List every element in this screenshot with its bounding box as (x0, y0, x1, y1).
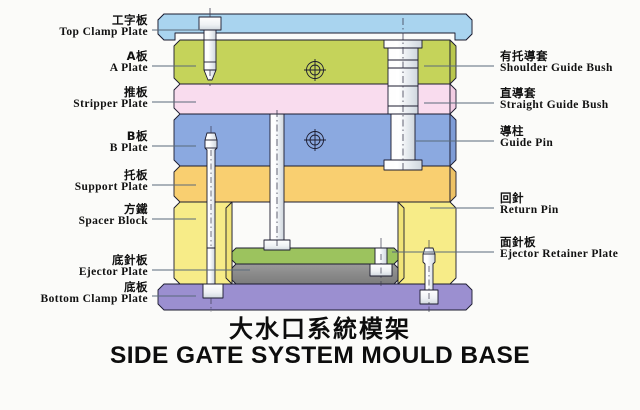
label-en: A Plate (0, 62, 148, 74)
diagram-title: 大水口系統模架 SIDE GATE SYSTEM MOULD BASE (0, 316, 640, 370)
label-top-clamp-plate: 工字板 Top Clamp Plate (0, 14, 148, 39)
label-en: Spacer Block (0, 215, 148, 227)
label-return-pin: 回針 Return Pin (500, 192, 559, 217)
label-ejector-retainer-plate: 面針板 Ejector Retainer Plate (500, 236, 618, 261)
label-straight-guide-bush: 直導套 Straight Guide Bush (500, 87, 609, 112)
label-stripper-plate: 推板 Stripper Plate (0, 86, 148, 111)
label-cn: 推板 (0, 86, 148, 98)
label-en: Ejector Retainer Plate (500, 248, 618, 260)
label-cn: 方鐵 (0, 203, 148, 215)
label-cn: 面針板 (500, 236, 618, 248)
label-cn: 導柱 (500, 125, 553, 137)
label-guide-pin: 導柱 Guide Pin (500, 125, 553, 150)
label-cn: 底針板 (0, 254, 148, 266)
label-en: Top Clamp Plate (0, 26, 148, 38)
label-cn: 有托導套 (500, 50, 613, 62)
label-support-plate: 托板 Support Plate (0, 169, 148, 194)
label-en: Ejector Plate (0, 266, 148, 278)
plate-support-plate (174, 166, 456, 202)
label-en: Support Plate (0, 181, 148, 193)
label-en: Return Pin (500, 204, 559, 216)
label-cn: 直導套 (500, 87, 609, 99)
label-cn: 工字板 (0, 14, 148, 26)
diagram-canvas: 工字板 Top Clamp Plate A板 A Plate 推板 Stripp… (0, 0, 640, 410)
plate-ejector-retainer-plate (232, 248, 398, 264)
label-cn: 回針 (500, 192, 559, 204)
label-shoulder-guide-bush: 有托導套 Shoulder Guide Bush (500, 50, 613, 75)
label-b-plate: B板 B Plate (0, 130, 148, 155)
label-cn: A板 (0, 50, 148, 62)
label-cn: B板 (0, 130, 148, 142)
label-en: Stripper Plate (0, 98, 148, 110)
label-en: Shoulder Guide Bush (500, 62, 613, 74)
label-a-plate: A板 A Plate (0, 50, 148, 75)
label-cn: 托板 (0, 169, 148, 181)
label-en: Straight Guide Bush (500, 99, 609, 111)
label-en: Guide Pin (500, 137, 553, 149)
title-chinese: 大水口系統模架 (0, 316, 640, 342)
title-english: SIDE GATE SYSTEM MOULD BASE (0, 342, 640, 369)
label-ejector-plate: 底針板 Ejector Plate (0, 254, 148, 279)
label-spacer-block: 方鐵 Spacer Block (0, 203, 148, 228)
label-bottom-clamp-plate: 底板 Bottom Clamp Plate (0, 281, 148, 306)
label-en: B Plate (0, 142, 148, 154)
label-en: Bottom Clamp Plate (0, 293, 148, 305)
label-cn: 底板 (0, 281, 148, 293)
